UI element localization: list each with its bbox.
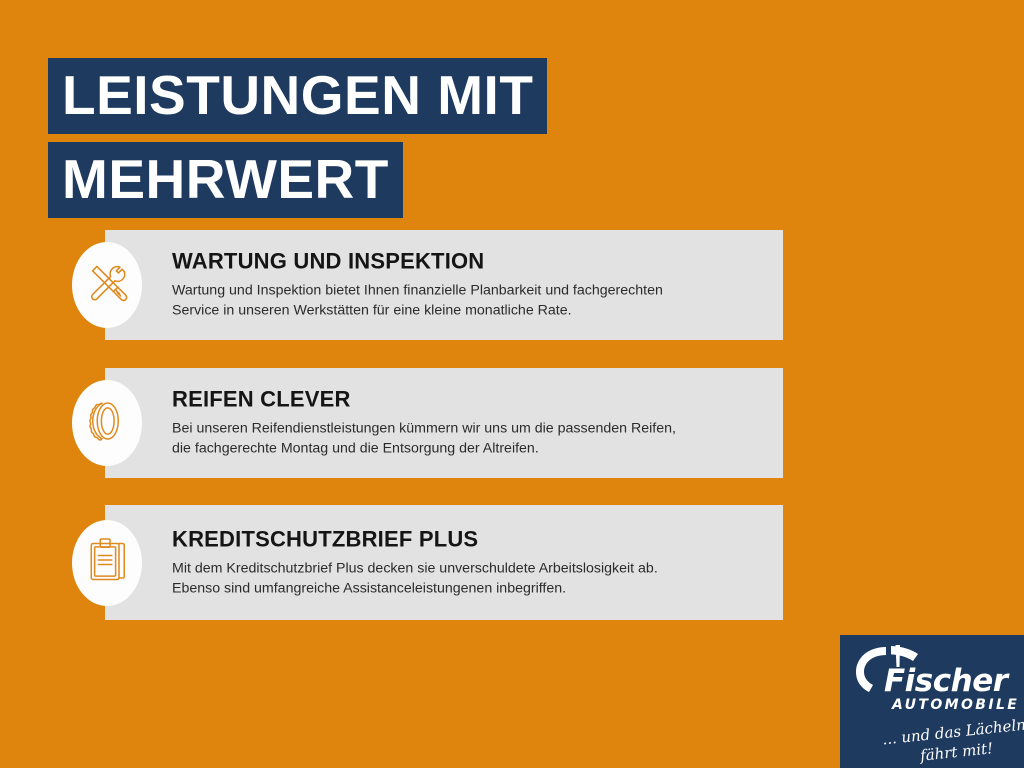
logo-subwordmark: AUTOMOBILE (892, 697, 1019, 713)
card-body: KREDITSCHUTZBRIEF PLUS Mit dem Kreditsch… (172, 527, 765, 599)
page-title: LEISTUNGEN MIT MEHRWERT (48, 58, 547, 218)
card-description: Wartung und Inspektion bietet Ihnen fina… (172, 280, 765, 320)
service-card-reifen-clever: REIFEN CLEVER Bei unseren Reifendienstle… (105, 368, 783, 478)
logo-wordmark: Fischer (884, 663, 1008, 699)
card-title: REIFEN CLEVER (172, 387, 765, 411)
card-title: WARTUNG UND INSPEKTION (172, 249, 765, 273)
title-line-2-wrap: MEHRWERT (48, 142, 547, 218)
service-card-kreditschutzbrief-plus: KREDITSCHUTZBRIEF PLUS Mit dem Kreditsch… (105, 505, 783, 620)
service-card-wartung-und-inspektion: WARTUNG UND INSPEKTION Wartung und Inspe… (105, 230, 783, 340)
card-description: Mit dem Kreditschutzbrief Plus decken si… (172, 558, 765, 598)
card-body: WARTUNG UND INSPEKTION Wartung und Inspe… (172, 249, 765, 321)
card-title: KREDITSCHUTZBRIEF PLUS (172, 527, 765, 551)
card-body: REIFEN CLEVER Bei unseren Reifendienstle… (172, 387, 765, 459)
tire-icon (83, 397, 131, 450)
title-line-1-wrap: LEISTUNGEN MIT (48, 58, 547, 134)
icon-circle (72, 380, 142, 466)
card-description: Bei unseren Reifendienstleistungen kümme… (172, 418, 765, 458)
fischer-automobile-logo: Fischer AUTOMOBILE ... und das Lächeln f… (840, 635, 1024, 768)
wrench-screwdriver-icon (84, 260, 130, 311)
title-line-1: LEISTUNGEN MIT (48, 58, 547, 134)
title-line-2: MEHRWERT (48, 142, 403, 218)
icon-circle (72, 520, 142, 606)
clipboard-icon (85, 536, 129, 589)
icon-circle (72, 242, 142, 328)
